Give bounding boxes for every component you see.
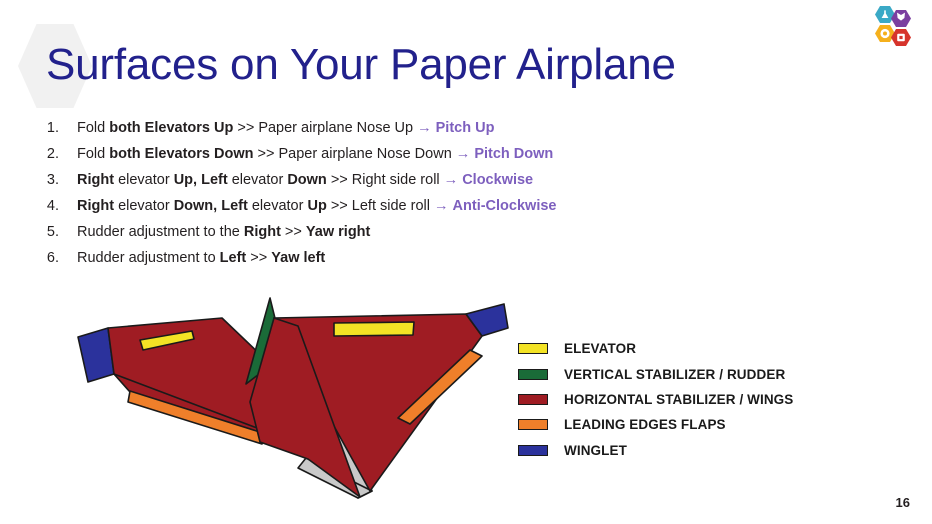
instruction-emphasis: Right bbox=[77, 198, 114, 214]
instruction-text: Fold both Elevators Up >> Paper airplane… bbox=[77, 120, 494, 136]
legend-item: WINGLET bbox=[518, 438, 793, 463]
instruction-emphasis: Left bbox=[220, 250, 247, 266]
instruction-plain: Fold bbox=[77, 120, 109, 136]
legend-label: VERTICAL STABILIZER / RUDDER bbox=[564, 367, 785, 382]
instruction-item: 6.Rudder adjustment to Left >> Yaw left bbox=[40, 250, 740, 276]
legend-color-swatch bbox=[518, 343, 548, 354]
instruction-text: Fold both Elevators Down >> Paper airpla… bbox=[77, 146, 553, 162]
page-title: Surfaces on Your Paper Airplane bbox=[46, 36, 676, 94]
instruction-plain: >> Right side roll bbox=[327, 172, 444, 188]
instruction-emphasis: Up, Left bbox=[174, 172, 228, 188]
instruction-number: 5. bbox=[40, 224, 77, 240]
right-arrow-icon: → bbox=[444, 172, 463, 188]
instruction-result: Pitch Up bbox=[436, 120, 495, 136]
butterfly-hexagon bbox=[891, 10, 911, 27]
instruction-item: 1.Fold both Elevators Up >> Paper airpla… bbox=[40, 120, 740, 146]
legend-color-swatch bbox=[518, 369, 548, 380]
legend-color-swatch bbox=[518, 419, 548, 430]
instruction-emphasis: both Elevators Up bbox=[109, 120, 233, 136]
gear-hexagon bbox=[875, 25, 895, 42]
instruction-plain: elevator bbox=[228, 172, 288, 188]
instruction-result: Pitch Down bbox=[474, 146, 553, 162]
elevator-right-shape bbox=[334, 322, 414, 336]
legend-item: LEADING EDGES FLAPS bbox=[518, 412, 793, 437]
instruction-item: 5.Rudder adjustment to the Right >> Yaw … bbox=[40, 224, 740, 250]
instruction-plain: >> Paper airplane Nose Down bbox=[253, 146, 455, 162]
instruction-result: Clockwise bbox=[462, 172, 533, 188]
instruction-plain: elevator bbox=[114, 198, 174, 214]
page-number: 16 bbox=[896, 495, 910, 510]
instruction-item: 2.Fold both Elevators Down >> Paper airp… bbox=[40, 146, 740, 172]
legend-label: HORIZONTAL STABILIZER / WINGS bbox=[564, 392, 793, 407]
instruction-number: 1. bbox=[40, 120, 77, 136]
instruction-item: 3.Right elevator Up, Left elevator Down … bbox=[40, 172, 740, 198]
instruction-emphasis: Up bbox=[307, 198, 326, 214]
legend-item: ELEVATOR bbox=[518, 336, 793, 361]
instruction-number: 6. bbox=[40, 250, 77, 266]
instruction-emphasis: both Elevators Down bbox=[109, 146, 253, 162]
instruction-plain: >> Paper airplane Nose Up bbox=[233, 120, 417, 136]
instruction-text: Right elevator Up, Left elevator Down >>… bbox=[77, 172, 533, 188]
instruction-list: 1.Fold both Elevators Up >> Paper airpla… bbox=[40, 120, 740, 276]
instruction-number: 4. bbox=[40, 198, 77, 214]
instruction-item: 4.Right elevator Down, Left elevator Up … bbox=[40, 198, 740, 224]
legend-label: LEADING EDGES FLAPS bbox=[564, 417, 726, 432]
instruction-emphasis: Yaw left bbox=[271, 250, 325, 266]
legend-label: WINGLET bbox=[564, 443, 627, 458]
instruction-text: Rudder adjustment to Left >> Yaw left bbox=[77, 250, 325, 266]
instruction-plain: elevator bbox=[248, 198, 308, 214]
instruction-plain: >> bbox=[281, 224, 306, 240]
legend-item: HORIZONTAL STABILIZER / WINGS bbox=[518, 387, 793, 412]
instruction-emphasis: Right bbox=[77, 172, 114, 188]
right-arrow-icon: → bbox=[434, 198, 453, 214]
four-hexagon-logo bbox=[866, 4, 920, 54]
legend-item: VERTICAL STABILIZER / RUDDER bbox=[518, 361, 793, 386]
instruction-emphasis: Down bbox=[287, 172, 326, 188]
instruction-plain: Rudder adjustment to bbox=[77, 250, 220, 266]
instruction-text: Right elevator Down, Left elevator Up >>… bbox=[77, 198, 556, 214]
flask-hexagon bbox=[875, 6, 895, 23]
paper-airplane-diagram bbox=[70, 292, 520, 507]
instruction-emphasis: Down, Left bbox=[174, 198, 248, 214]
legend: ELEVATORVERTICAL STABILIZER / RUDDERHORI… bbox=[518, 336, 793, 463]
instruction-number: 2. bbox=[40, 146, 77, 162]
instruction-plain: Rudder adjustment to the bbox=[77, 224, 244, 240]
right-arrow-icon: → bbox=[417, 120, 436, 136]
instruction-plain: elevator bbox=[114, 172, 174, 188]
instruction-emphasis: Yaw right bbox=[306, 224, 370, 240]
instruction-plain: Fold bbox=[77, 146, 109, 162]
instruction-plain: >> bbox=[246, 250, 271, 266]
instruction-result: Anti-Clockwise bbox=[453, 198, 557, 214]
right-arrow-icon: → bbox=[456, 146, 475, 162]
legend-color-swatch bbox=[518, 445, 548, 456]
legend-color-swatch bbox=[518, 394, 548, 405]
instruction-text: Rudder adjustment to the Right >> Yaw ri… bbox=[77, 224, 370, 240]
instruction-number: 3. bbox=[40, 172, 77, 188]
instruction-plain: >> Left side roll bbox=[327, 198, 434, 214]
chip-hexagon bbox=[891, 29, 911, 46]
instruction-emphasis: Right bbox=[244, 224, 281, 240]
legend-label: ELEVATOR bbox=[564, 341, 636, 356]
